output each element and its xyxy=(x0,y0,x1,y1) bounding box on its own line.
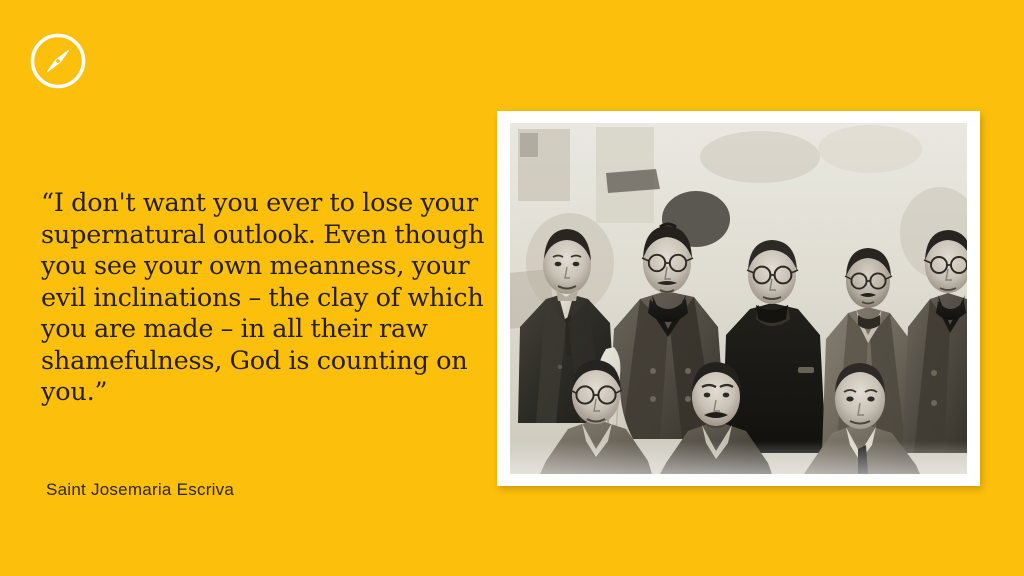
quote-text: “I don't want you ever to lose your supe… xyxy=(41,188,493,409)
compass-icon xyxy=(29,32,87,90)
quote-slide: “I don't want you ever to lose your supe… xyxy=(0,0,1024,576)
quote-attribution: Saint Josemaria Escriva xyxy=(46,479,234,501)
quote-block: “I don't want you ever to lose your supe… xyxy=(41,188,493,409)
photo-frame xyxy=(497,111,980,486)
photo-image xyxy=(510,123,967,474)
